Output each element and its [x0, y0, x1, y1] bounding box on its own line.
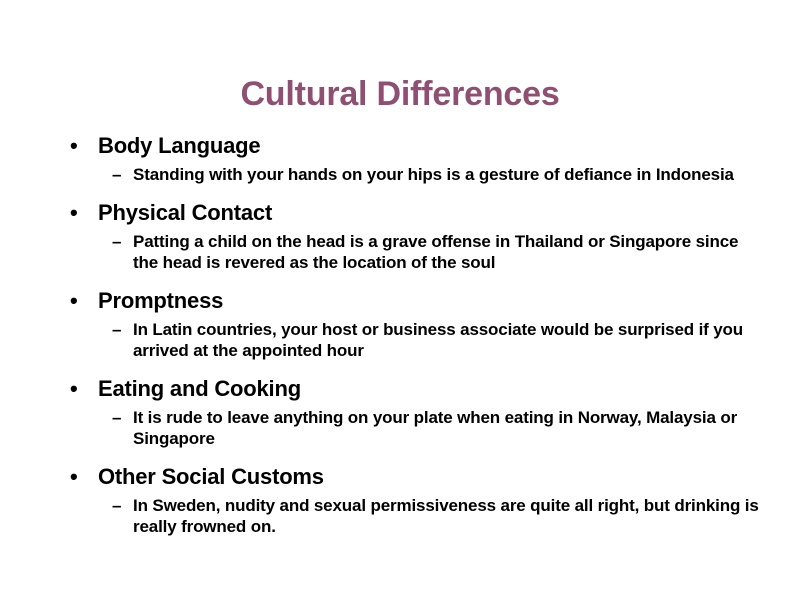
bullet-marker-icon: •: [70, 375, 78, 403]
bullet-group: • Other Social Customs – In Sweden, nudi…: [0, 463, 800, 537]
sub-bullet-text: Standing with your hands on your hips is…: [133, 164, 760, 185]
sub-bullet-text: It is rude to leave anything on your pla…: [133, 407, 760, 449]
presentation-slide: Cultural Differences • Body Language – S…: [0, 0, 800, 600]
bullet-label: Other Social Customs: [98, 464, 324, 489]
bullet-group: • Physical Contact – Patting a child on …: [0, 199, 800, 273]
bullet-label: Promptness: [98, 288, 223, 313]
bullet-item-physical-contact: • Physical Contact: [0, 199, 800, 227]
bullet-marker-icon: •: [70, 463, 78, 491]
sub-bullet-item: – In Latin countries, your host or busin…: [0, 319, 800, 361]
dash-marker-icon: –: [112, 319, 121, 340]
bullet-item-other-social-customs: • Other Social Customs: [0, 463, 800, 491]
sub-bullet-text: In Latin countries, your host or busines…: [133, 319, 760, 361]
bullet-marker-icon: •: [70, 199, 78, 227]
bullet-item-body-language: • Body Language: [0, 132, 800, 160]
sub-bullet-text: Patting a child on the head is a grave o…: [133, 231, 760, 273]
spacer: [0, 273, 800, 287]
bullet-label: Eating and Cooking: [98, 376, 301, 401]
sub-bullet-text: In Sweden, nudity and sexual permissiven…: [133, 495, 760, 537]
bullet-group: • Body Language – Standing with your han…: [0, 132, 800, 185]
dash-marker-icon: –: [112, 407, 121, 428]
bullet-label: Physical Contact: [98, 200, 272, 225]
spacer: [0, 449, 800, 463]
bullet-item-eating-and-cooking: • Eating and Cooking: [0, 375, 800, 403]
dash-marker-icon: –: [112, 495, 121, 516]
bullet-group: • Eating and Cooking – It is rude to lea…: [0, 375, 800, 449]
sub-bullet-item: – In Sweden, nudity and sexual permissiv…: [0, 495, 800, 537]
slide-title: Cultural Differences: [0, 74, 800, 114]
spacer: [0, 185, 800, 199]
slide-body: • Body Language – Standing with your han…: [0, 132, 800, 537]
spacer: [0, 361, 800, 375]
bullet-marker-icon: •: [70, 287, 78, 315]
sub-bullet-item: – Patting a child on the head is a grave…: [0, 231, 800, 273]
dash-marker-icon: –: [112, 164, 121, 185]
sub-bullet-item: – It is rude to leave anything on your p…: [0, 407, 800, 449]
dash-marker-icon: –: [112, 231, 121, 252]
sub-bullet-item: – Standing with your hands on your hips …: [0, 164, 800, 185]
bullet-label: Body Language: [98, 133, 260, 158]
bullet-group: • Promptness – In Latin countries, your …: [0, 287, 800, 361]
bullet-marker-icon: •: [70, 132, 78, 160]
bullet-item-promptness: • Promptness: [0, 287, 800, 315]
